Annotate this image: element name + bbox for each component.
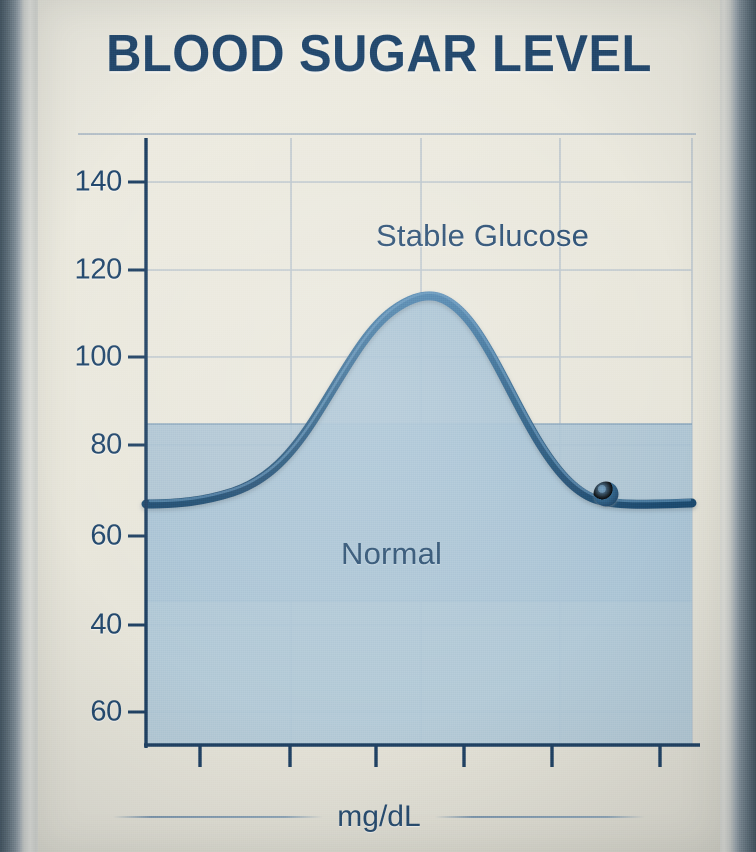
annotation-normal: Normal — [341, 536, 442, 572]
footer-rule-right — [435, 816, 645, 818]
y-axis-tick-labels: 140 120 100 80 60 40 60 — [26, 0, 122, 852]
x-axis-ticks — [200, 746, 660, 767]
y-axis-ticks — [128, 182, 147, 712]
y-tick-label: 40 — [32, 609, 122, 642]
y-tick-label: 60 — [32, 696, 122, 729]
y-tick-label: 100 — [32, 341, 122, 374]
footer-rule-left — [113, 816, 323, 818]
y-tick-label: 120 — [32, 254, 122, 287]
x-axis-label: mg/dL — [337, 800, 420, 834]
y-tick-label: 140 — [32, 166, 122, 199]
glucose-area-fill — [146, 296, 692, 745]
x-axis-label-group: mg/dL — [38, 792, 720, 842]
y-tick-label: 80 — [32, 429, 122, 462]
y-tick-label: 60 — [32, 520, 122, 553]
current-reading-marker-highlight — [598, 485, 606, 493]
picture-frame: BLOOD SUGAR LEVEL — [0, 0, 756, 852]
current-reading-marker[interactable] — [594, 482, 619, 507]
annotation-stable-glucose: Stable Glucose — [376, 218, 589, 254]
